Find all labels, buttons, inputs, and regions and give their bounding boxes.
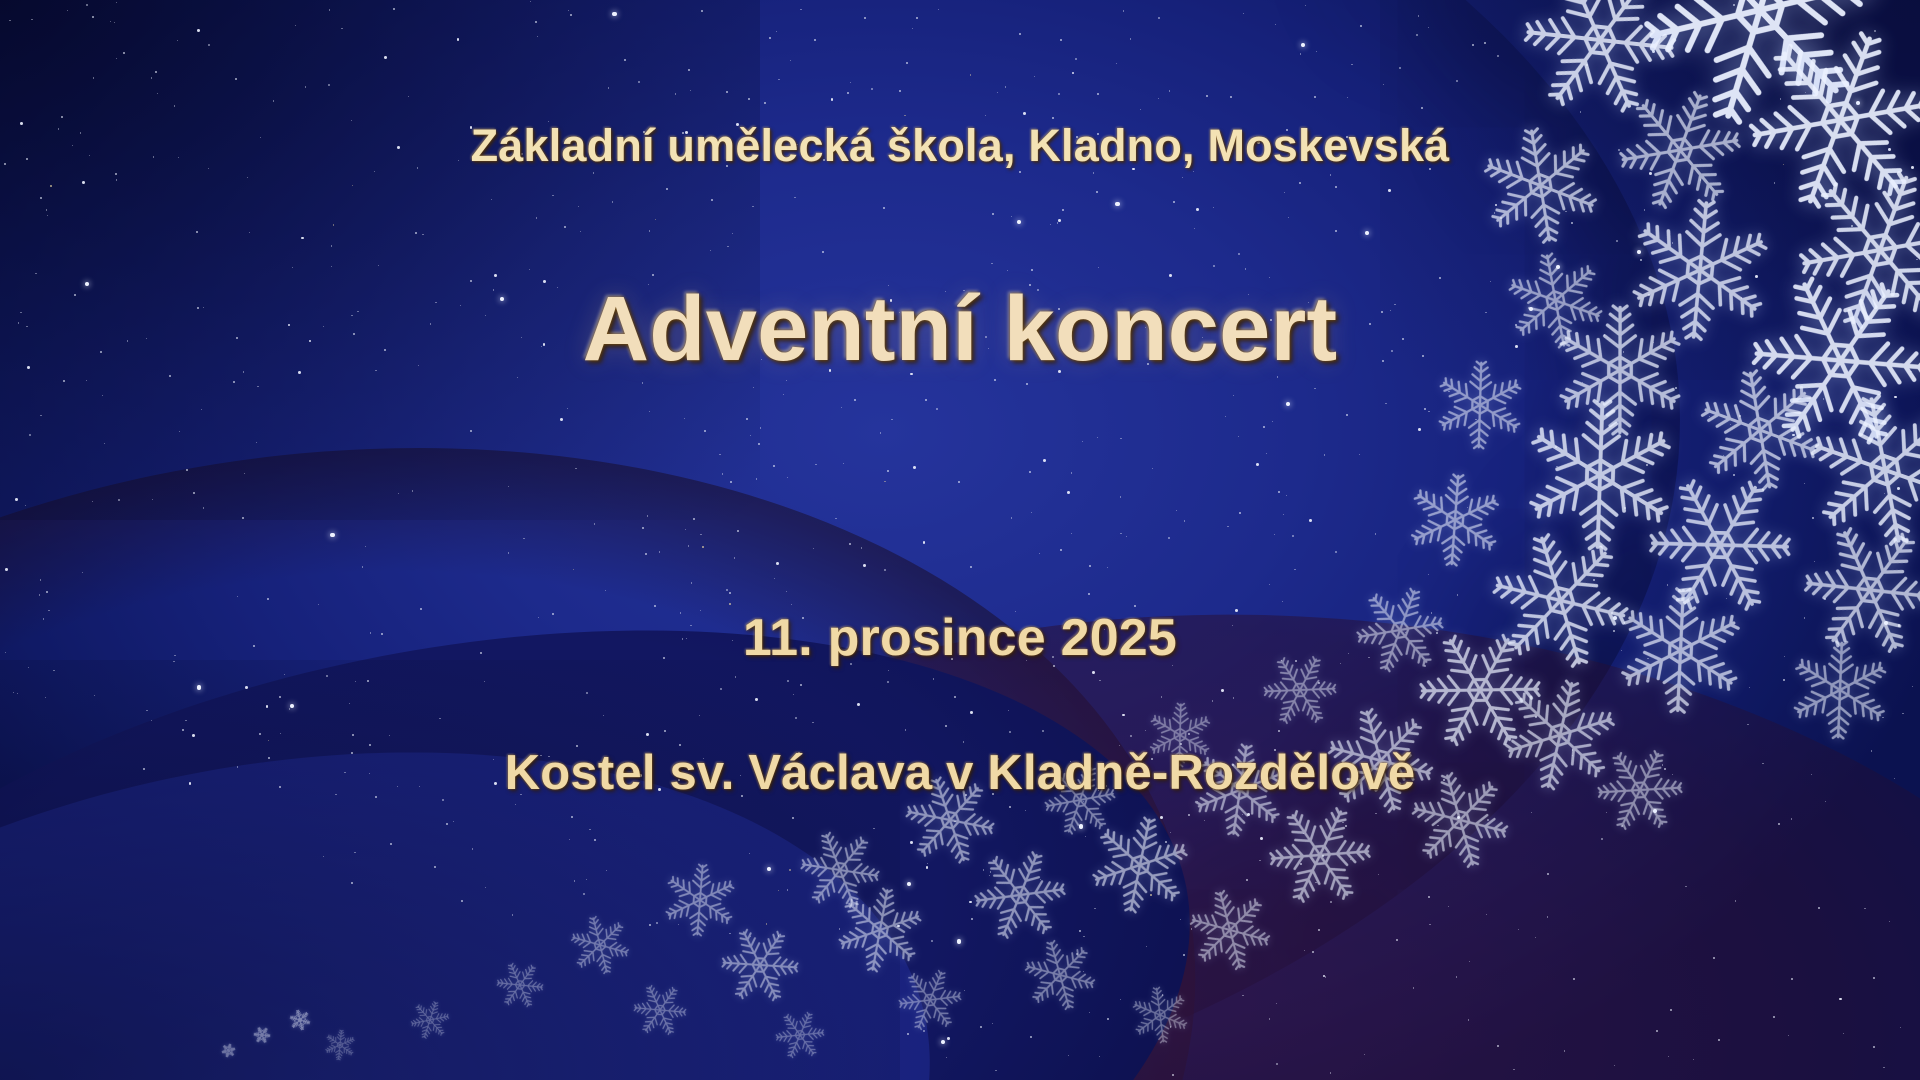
star-icon xyxy=(1726,598,1727,599)
event-date: 11. prosince 2025 xyxy=(0,608,1920,668)
star-icon xyxy=(1752,550,1753,551)
page-title: Adventní koncert xyxy=(0,277,1920,382)
star-icon xyxy=(1832,464,1833,465)
star-icon xyxy=(1894,396,1897,399)
school-name: Základní umělecká škola, Kladno, Moskevs… xyxy=(0,120,1920,172)
star-icon xyxy=(1723,455,1724,456)
star-icon xyxy=(1882,717,1883,718)
star-icon xyxy=(1730,424,1731,425)
vignette-top-left xyxy=(0,0,760,520)
star-icon xyxy=(1902,713,1903,714)
vignette-bottom-left xyxy=(0,660,900,1080)
star-icon xyxy=(1804,483,1805,484)
star-icon xyxy=(1667,584,1668,585)
star-icon xyxy=(1739,415,1741,417)
star-icon xyxy=(1792,434,1795,437)
event-venue: Kostel sv. Václava v Kladně-Rozdělově xyxy=(0,745,1920,801)
star-icon xyxy=(1884,493,1885,494)
star-icon xyxy=(1783,679,1785,681)
star-icon xyxy=(1824,598,1826,600)
snowflake-icon xyxy=(1790,375,1920,566)
star-icon xyxy=(1823,398,1824,399)
star-icon xyxy=(1733,474,1735,476)
advent-concert-poster: Základní umělecká škola, Kladno, Moskevs… xyxy=(0,0,1920,1080)
star-icon xyxy=(1709,416,1710,417)
star-icon xyxy=(1749,687,1750,688)
star-icon xyxy=(1912,686,1913,687)
star-icon xyxy=(1814,561,1815,562)
star-icon xyxy=(1897,487,1900,490)
star-icon xyxy=(1812,517,1814,519)
